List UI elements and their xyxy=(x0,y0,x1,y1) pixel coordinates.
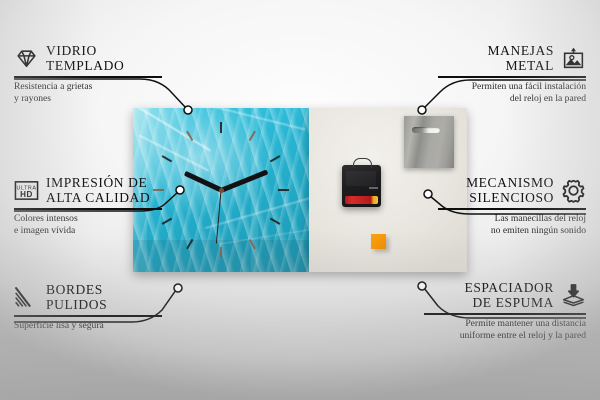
feature-rule xyxy=(14,208,162,210)
aa-battery xyxy=(345,196,378,204)
feature-desc-line1: Permiten una fácil instalación xyxy=(472,81,586,92)
gear-icon xyxy=(561,178,586,203)
feature-title-line1: BORDES xyxy=(46,283,107,298)
feature-title-line2: SILENCIOSO xyxy=(469,191,554,206)
feature-bordes-pulidos: BORDES PULIDOS Superficie lisa y segura xyxy=(14,283,162,332)
feature-desc-line2: uniforme entre el reloj y la pared xyxy=(460,330,586,341)
feature-desc: Superficie lisa y segura xyxy=(14,320,162,333)
feature-desc: Permiten una fácil instalación del reloj… xyxy=(438,81,586,106)
infographic-canvas: VIDRIO TEMPLADO Resistencia a grietas y … xyxy=(0,0,600,400)
feature-rule xyxy=(424,313,586,315)
feature-desc: Resistencia a grietas y rayones xyxy=(14,81,162,106)
svg-text:HD: HD xyxy=(20,190,33,199)
feature-desc-line2: no emiten ningún sonido xyxy=(491,225,586,236)
feature-title-line2: TEMPLADO xyxy=(46,59,124,74)
feature-rule xyxy=(438,76,586,78)
feature-title-line1: MECANISMO xyxy=(466,176,554,191)
feature-title-line2: ALTA CALIDAD xyxy=(46,191,150,206)
feature-rule xyxy=(14,76,162,78)
feature-title: ultra HD IMPRESIÓN DE ALTA CALIDAD xyxy=(14,176,162,205)
foam-spacer xyxy=(371,234,386,249)
mechanism-hanging-loop xyxy=(353,158,372,168)
feature-espaciador-espuma: ESPACIADOR DE ESPUMA Permite mantener un… xyxy=(424,281,586,343)
feature-title-line2: DE ESPUMA xyxy=(472,296,554,311)
mechanism-plate xyxy=(346,171,376,186)
feature-title: MECANISMO SILENCIOSO xyxy=(438,176,586,205)
feature-title: MANEJAS METAL xyxy=(438,44,586,73)
feature-desc-line2: del reloj en la pared xyxy=(510,93,586,104)
arrow-down-onto-block-icon xyxy=(561,283,586,308)
feature-title-line1: ESPACIADOR xyxy=(464,281,554,296)
feature-desc: Colores intensos e imagen vívida xyxy=(14,213,162,238)
feature-title: ESPACIADOR DE ESPUMA xyxy=(424,281,586,310)
clock-hour-hand xyxy=(184,171,222,192)
product-image xyxy=(133,108,467,272)
feature-title-line1: MANEJAS xyxy=(488,44,554,59)
feature-desc-line1: Resistencia a grietas xyxy=(14,81,92,92)
feature-title-line2: METAL xyxy=(506,59,554,74)
clock-center-cap xyxy=(219,188,224,193)
feature-desc: Las manecillas del reloj no emiten ningú… xyxy=(438,213,586,238)
feature-rule xyxy=(438,208,586,210)
feature-mecanismo-silencioso: MECANISMO SILENCIOSO Las manecillas del … xyxy=(438,176,586,238)
feature-desc: Permite mantener una distancia uniforme … xyxy=(424,318,586,343)
feature-desc-line1: Permite mantener una distancia xyxy=(465,318,586,329)
clock-second-hand xyxy=(216,190,222,244)
polished-edge-icon xyxy=(14,285,39,310)
clock-minute-hand xyxy=(220,169,268,192)
quartz-mechanism xyxy=(342,165,381,207)
metal-hanger-plate xyxy=(404,116,454,168)
picture-frame-hanging-icon xyxy=(561,46,586,71)
mechanism-label xyxy=(369,187,378,189)
feature-title-line1: VIDRIO xyxy=(46,44,124,59)
feature-desc-line2: y rayones xyxy=(14,93,51,104)
feature-desc-line1: Superficie lisa y segura xyxy=(14,320,104,331)
feature-impresion-alta-calidad: ultra HD IMPRESIÓN DE ALTA CALIDAD Color… xyxy=(14,176,162,238)
feature-title: BORDES PULIDOS xyxy=(14,283,162,312)
feature-desc-line2: e imagen vívida xyxy=(14,225,75,236)
hanger-keyhole-slot xyxy=(412,127,440,133)
feature-manejas-metal: MANEJAS METAL Permiten una fácil instala… xyxy=(438,44,586,106)
feature-title-line1: IMPRESIÓN DE xyxy=(46,176,150,191)
feature-rule xyxy=(14,315,162,317)
ultra-hd-icon: ultra HD xyxy=(14,178,39,203)
feature-vidrio-templado: VIDRIO TEMPLADO Resistencia a grietas y … xyxy=(14,44,162,106)
feature-desc-line1: Las manecillas del reloj xyxy=(495,213,586,224)
diamond-icon xyxy=(14,46,39,71)
feature-desc-line1: Colores intensos xyxy=(14,213,78,224)
feature-title: VIDRIO TEMPLADO xyxy=(14,44,162,73)
feature-title-line2: PULIDOS xyxy=(46,298,107,313)
